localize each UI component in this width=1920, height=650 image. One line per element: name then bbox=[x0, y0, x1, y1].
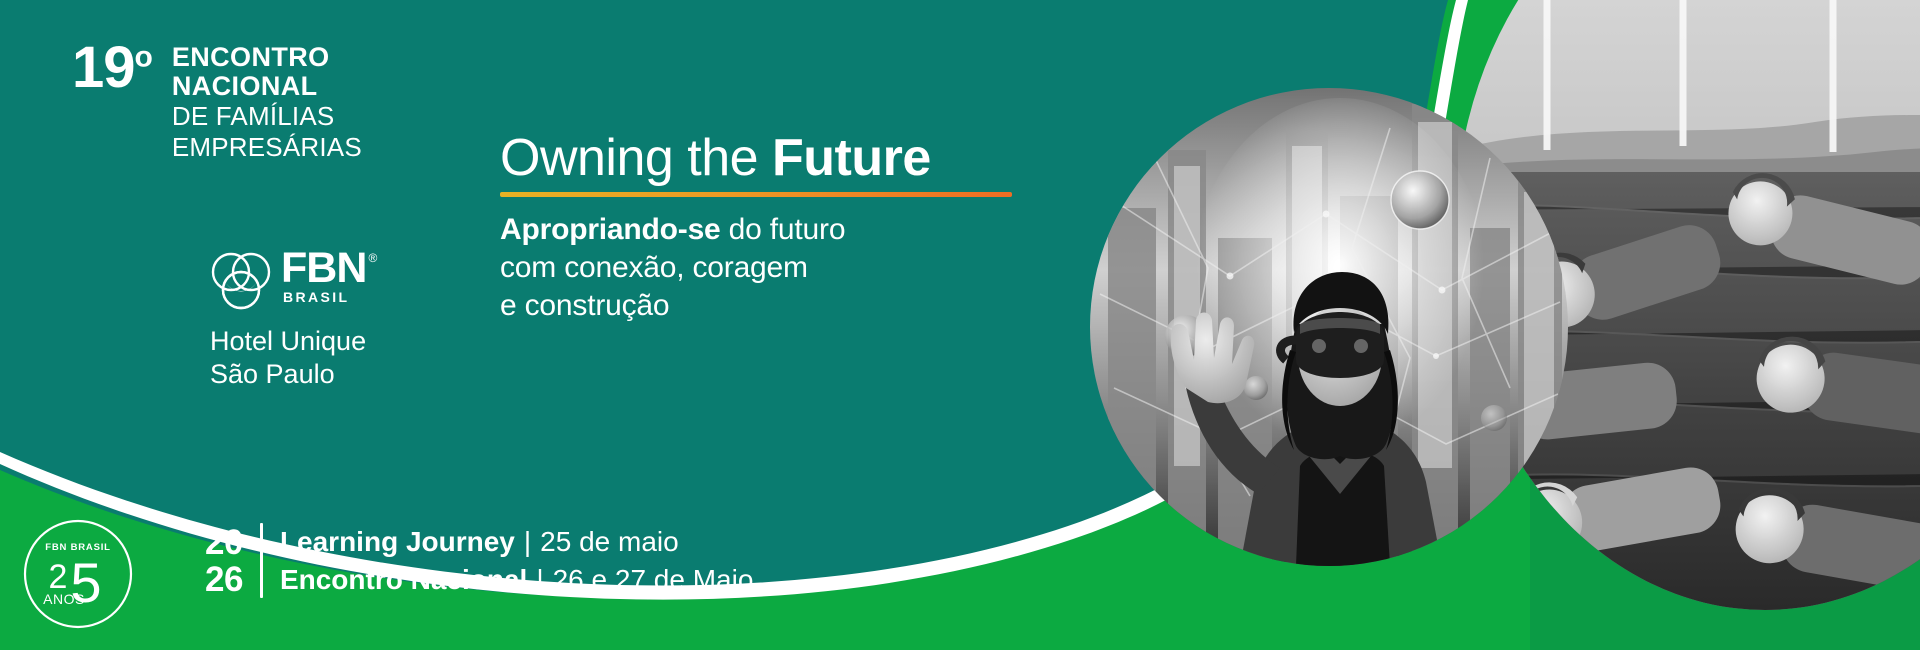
anniversary-label: ANOS bbox=[43, 591, 85, 607]
registered-mark-icon: ® bbox=[369, 251, 378, 265]
edition-ordinal: o bbox=[135, 41, 152, 74]
date-separator: | bbox=[536, 561, 543, 599]
edition-line-familias: DE FAMÍLIAS bbox=[172, 102, 362, 131]
subtitle-line-3: e construção bbox=[500, 287, 1012, 325]
year-bottom: 26 bbox=[205, 562, 243, 597]
fbn-wordmark: FBN bbox=[281, 250, 366, 287]
event-banner: 19o ENCONTRO NACIONAL DE FAMÍLIAS EMPRES… bbox=[0, 0, 1920, 650]
headline-bold-part: Future bbox=[772, 129, 931, 187]
fbn-logo: FBN ® BRASIL bbox=[210, 250, 366, 315]
venue-hotel: Hotel Unique bbox=[210, 325, 366, 358]
headline-subtitle: Apropriando-se do futuro com conexão, co… bbox=[500, 211, 1012, 324]
edition-line-empresarias: EMPRESÁRIAS bbox=[172, 133, 362, 162]
edition-line-nacional: NACIONAL bbox=[172, 72, 362, 101]
year-top: 20 bbox=[205, 525, 243, 560]
edition-number: 19o bbox=[72, 40, 152, 97]
edition-number-value: 19 bbox=[72, 35, 135, 100]
event-year: 20 26 bbox=[205, 523, 260, 598]
headline-light-part: Owning the bbox=[500, 129, 772, 187]
venue-block: Hotel Unique São Paulo bbox=[210, 325, 366, 391]
headline-main: Owning the Future bbox=[500, 132, 1012, 185]
date-label-learning-journey: Learning Journey bbox=[280, 523, 515, 561]
date-value-encontro-nacional: 26 e 27 de Maio bbox=[553, 561, 754, 599]
date-separator: | bbox=[524, 523, 531, 561]
edition-line-encontro: ENCONTRO bbox=[172, 43, 362, 72]
date-label-encontro-nacional: Encontro Nacional bbox=[280, 561, 527, 599]
venue-city: São Paulo bbox=[210, 358, 366, 391]
date-value-learning-journey: 25 de maio bbox=[540, 523, 679, 561]
subtitle-line-1: Apropriando-se do futuro bbox=[500, 211, 1012, 249]
headline-gradient-rule bbox=[500, 192, 1012, 197]
date-row: Encontro Nacional | 26 e 27 de Maio bbox=[280, 561, 753, 599]
fbn-circles-icon bbox=[210, 252, 272, 315]
anniversary-badge: FBN BRASIL 2 5 ANOS bbox=[22, 518, 134, 630]
dates-block: 20 26 Learning Journey | 25 de maio Enco… bbox=[205, 523, 753, 598]
subtitle-line-2: com conexão, coragem bbox=[500, 249, 1012, 287]
subtitle-rest: do futuro bbox=[721, 213, 846, 246]
date-row: Learning Journey | 25 de maio bbox=[280, 523, 753, 561]
photo-vr-woman bbox=[1090, 88, 1568, 566]
edition-title-block: 19o ENCONTRO NACIONAL DE FAMÍLIAS EMPRES… bbox=[72, 40, 362, 162]
subtitle-bold: Apropriando-se bbox=[500, 213, 721, 246]
headline-block: Owning the Future Apropriando-se do futu… bbox=[500, 132, 1012, 324]
dates-vertical-divider bbox=[260, 523, 263, 598]
